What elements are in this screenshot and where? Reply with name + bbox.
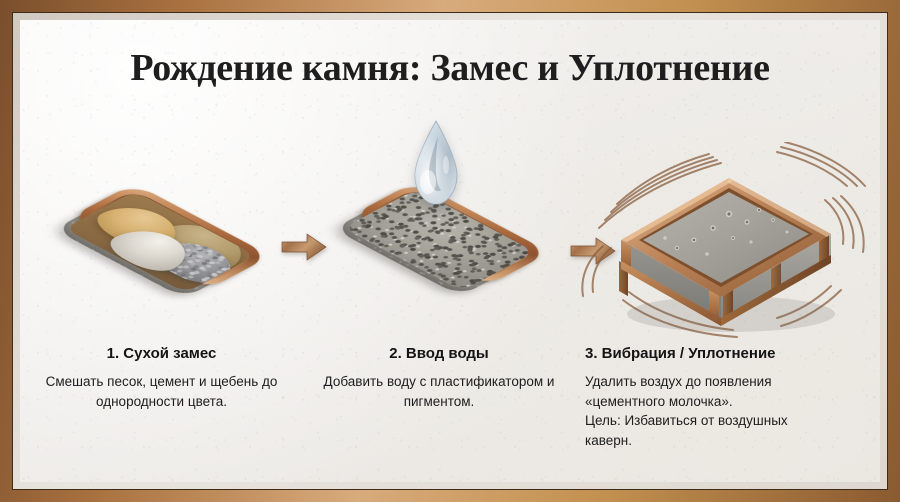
steps-container: 1. Сухой замес Смешать песок, цемент и щ… — [20, 116, 880, 474]
step-2: 2. Ввод воды Добавить воду с пластификат… — [303, 116, 575, 474]
step-1: 1. Сухой замес Смешать песок, цемент и щ… — [20, 116, 303, 474]
concrete-form-mold — [581, 142, 871, 338]
poster-canvas: Рождение камня: Замес и Уплотнение — [20, 20, 880, 482]
step-3-illustration — [575, 116, 880, 342]
step-1-heading: 1. Сухой замес — [38, 344, 285, 363]
step-3-body-line-3: Цель: Избавиться от воздушных — [585, 411, 868, 431]
step-2-heading: 2. Ввод воды — [323, 344, 555, 363]
vibrating-mold-icon — [581, 142, 871, 338]
dry-mix-tray-icon — [60, 178, 260, 306]
infographic-poster: Рождение камня: Замес и Уплотнение — [0, 0, 900, 502]
step-3: 3. Вибрация / Уплотнение Удалить воздух … — [575, 116, 880, 474]
water-droplet-icon — [407, 120, 465, 206]
step-2-illustration — [303, 116, 575, 342]
step-1-illustration — [20, 116, 303, 342]
step-3-caption: 3. Вибрация / Уплотнение Удалить воздух … — [575, 344, 880, 450]
page-title: Рождение камня: Замес и Уплотнение — [20, 46, 880, 90]
step-3-body-line-1: Удалить воздух до появления — [585, 372, 868, 392]
step-3-body-line-4: каверн. — [585, 431, 868, 451]
step-3-heading: 3. Вибрация / Уплотнение — [585, 344, 868, 363]
step-3-body: Удалить воздух до появления «цементного … — [585, 372, 868, 450]
step-2-body: Добавить воду с пластификатором и пигмен… — [323, 372, 555, 411]
step-2-caption: 2. Ввод воды Добавить воду с пластификат… — [303, 344, 575, 411]
step-3-body-line-2: «цементного молочка». — [585, 392, 868, 412]
step-1-body: Смешать песок, цемент и щебень до одноро… — [38, 372, 285, 411]
step-1-caption: 1. Сухой замес Смешать песок, цемент и щ… — [20, 344, 303, 411]
